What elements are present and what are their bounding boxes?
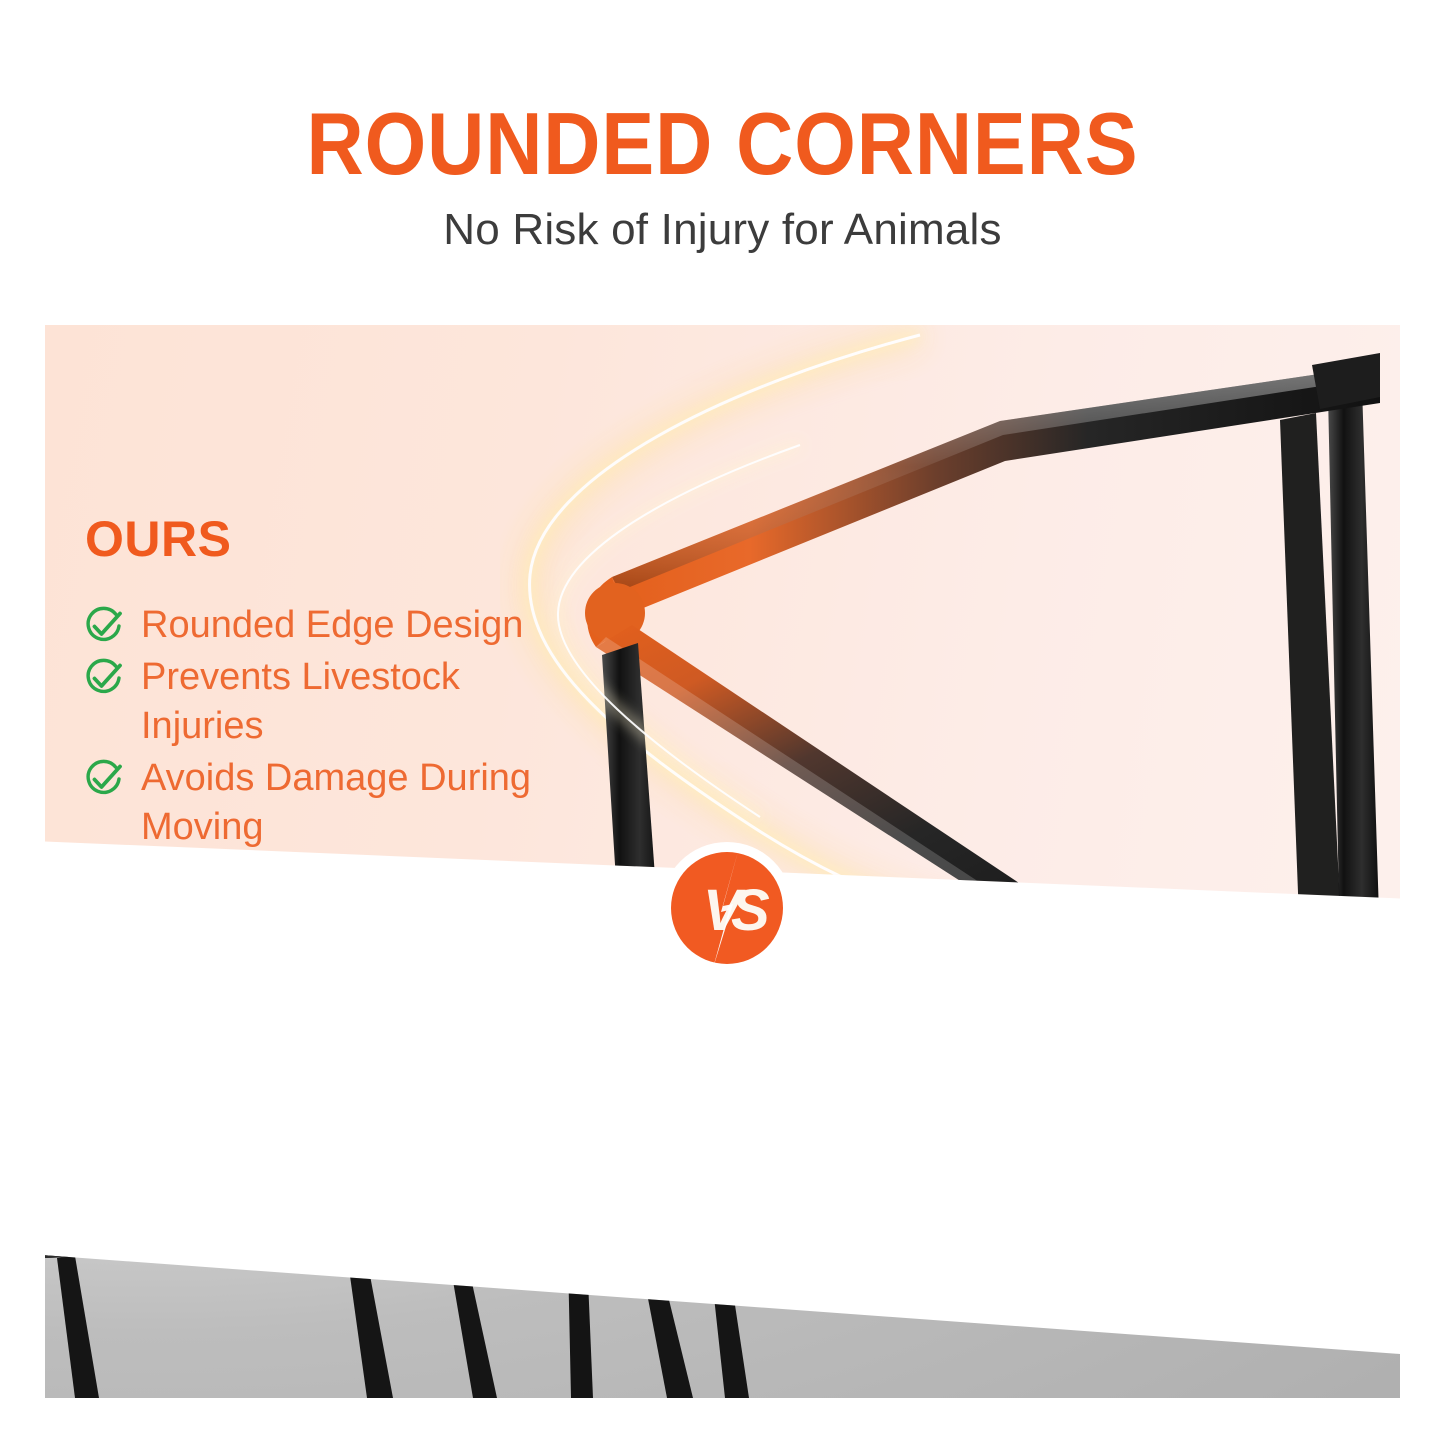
others-drawback-list: Sharp Edges Animals Injury xyxy=(1027,1080,1350,1254)
check-circle-icon xyxy=(83,758,125,800)
versus-badge: V S xyxy=(659,840,795,976)
comparison-stage: OURS Rounded Edge Design xyxy=(45,325,1400,1398)
circled-x-icon xyxy=(1318,1085,1350,1117)
others-product-photo xyxy=(45,928,945,1398)
ours-feature-list: Rounded Edge Design Prevents Livestock I… xyxy=(83,601,583,855)
ours-product-photo xyxy=(500,325,1400,945)
header-banner: ROUNDED CORNERS No Risk of Injury for An… xyxy=(0,0,1445,325)
circled-x-icon xyxy=(1318,1143,1350,1175)
list-item: Avoids Damage During Moving xyxy=(83,754,583,852)
list-item: Animals Injury xyxy=(1027,1138,1350,1196)
list-item: Rounded Edge Design xyxy=(83,601,583,650)
svg-text:S: S xyxy=(731,878,770,943)
list-item-label: Prevents Livestock Injuries xyxy=(141,656,460,747)
list-item-label: Difficult to Clean xyxy=(1027,1204,1296,1245)
list-item-label: Sharp Edges xyxy=(1082,1088,1296,1129)
list-item-label: Animals Injury xyxy=(1063,1146,1295,1187)
page-subtitle: No Risk of Injury for Animals xyxy=(0,205,1445,255)
list-item: Prevents Livestock Injuries xyxy=(83,653,583,751)
page-title: ROUNDED CORNERS xyxy=(72,98,1373,190)
check-circle-icon xyxy=(83,605,125,647)
list-item: Difficult to Clean xyxy=(1027,1196,1350,1254)
list-item: Sharp Edges xyxy=(1027,1080,1350,1138)
ours-heading: OURS xyxy=(85,510,231,568)
list-item-label: Rounded Edge Design xyxy=(141,604,523,646)
others-heading: OTHERS xyxy=(1147,998,1350,1053)
check-circle-icon xyxy=(83,657,125,699)
list-item-label: Avoids Damage During Moving xyxy=(141,757,531,848)
circled-x-icon xyxy=(1318,1201,1350,1233)
